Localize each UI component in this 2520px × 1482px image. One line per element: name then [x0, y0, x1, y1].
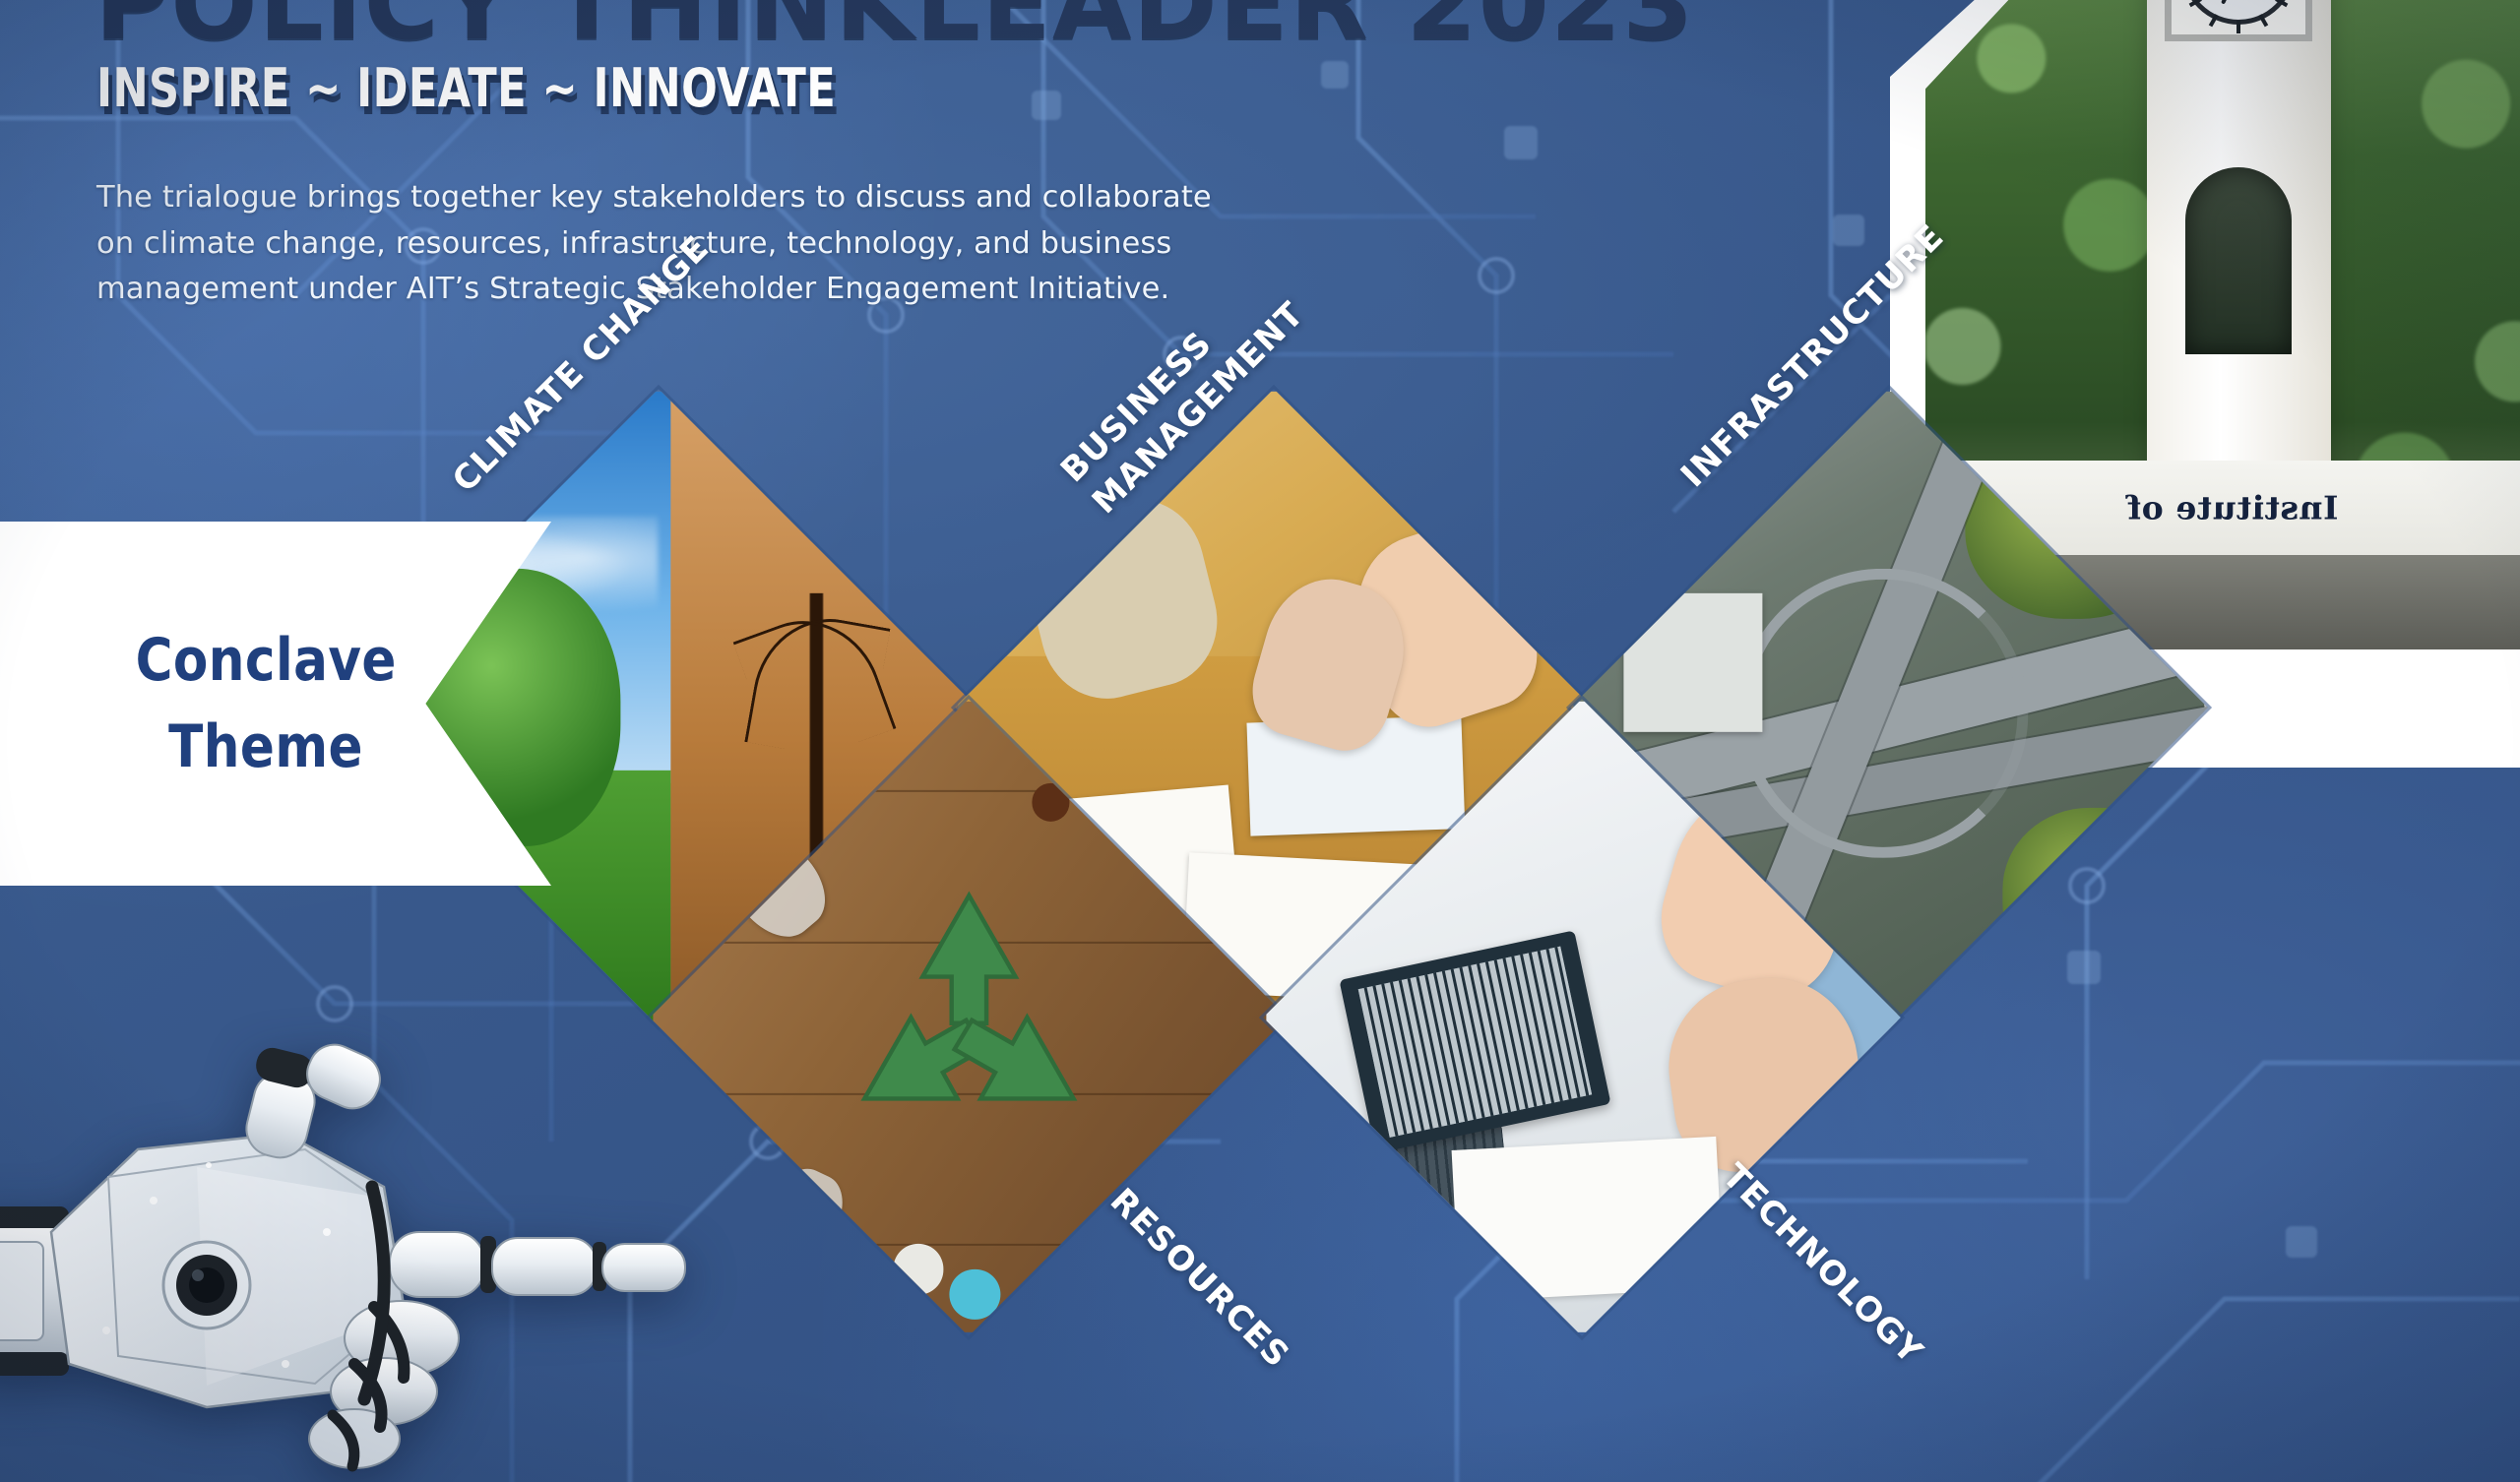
clock-face-icon: [2181, 0, 2296, 25]
conclave-theme-line-2: Theme: [168, 705, 363, 789]
tower-archway: [2185, 167, 2292, 354]
description-line-3-text: management under AIT’s Strategic Stakeho…: [96, 272, 1169, 306]
building-sign-text: Institute of: [2127, 489, 2339, 527]
description-line-1: The trialogue brings together key stakeh…: [96, 175, 1598, 221]
robot-hand-illustration: [0, 1039, 709, 1482]
poster-canvas: Institute of POLICY THINKLEADER 2023 INS…: [0, 0, 2520, 1482]
clock-frame: [2165, 0, 2312, 41]
tagline-block: INSPIRE ~ IDEATE ~ INNOVATE INSPIRE ~ ID…: [96, 57, 1021, 119]
tagline-text: INSPIRE ~ IDEATE ~ INNOVATE: [96, 57, 836, 119]
description-line-3: management under AIT’s Strategic Stakeho…: [96, 267, 1598, 313]
clock-minute-hand: [2221, 0, 2240, 5]
conclave-theme-line-1: Conclave: [135, 618, 396, 703]
description-line-1-text: The trialogue brings together key stakeh…: [96, 175, 1212, 221]
recycle-symbol-icon: [824, 873, 1114, 1163]
poster-description: The trialogue brings together key stakeh…: [96, 175, 1598, 313]
description-line-2-text: on climate change, resources, infrastruc…: [96, 221, 1171, 268]
poster-ghost-title: POLICY THINKLEADER 2023: [94, 0, 1695, 63]
description-line-2: on climate change, resources, infrastruc…: [96, 221, 1598, 268]
